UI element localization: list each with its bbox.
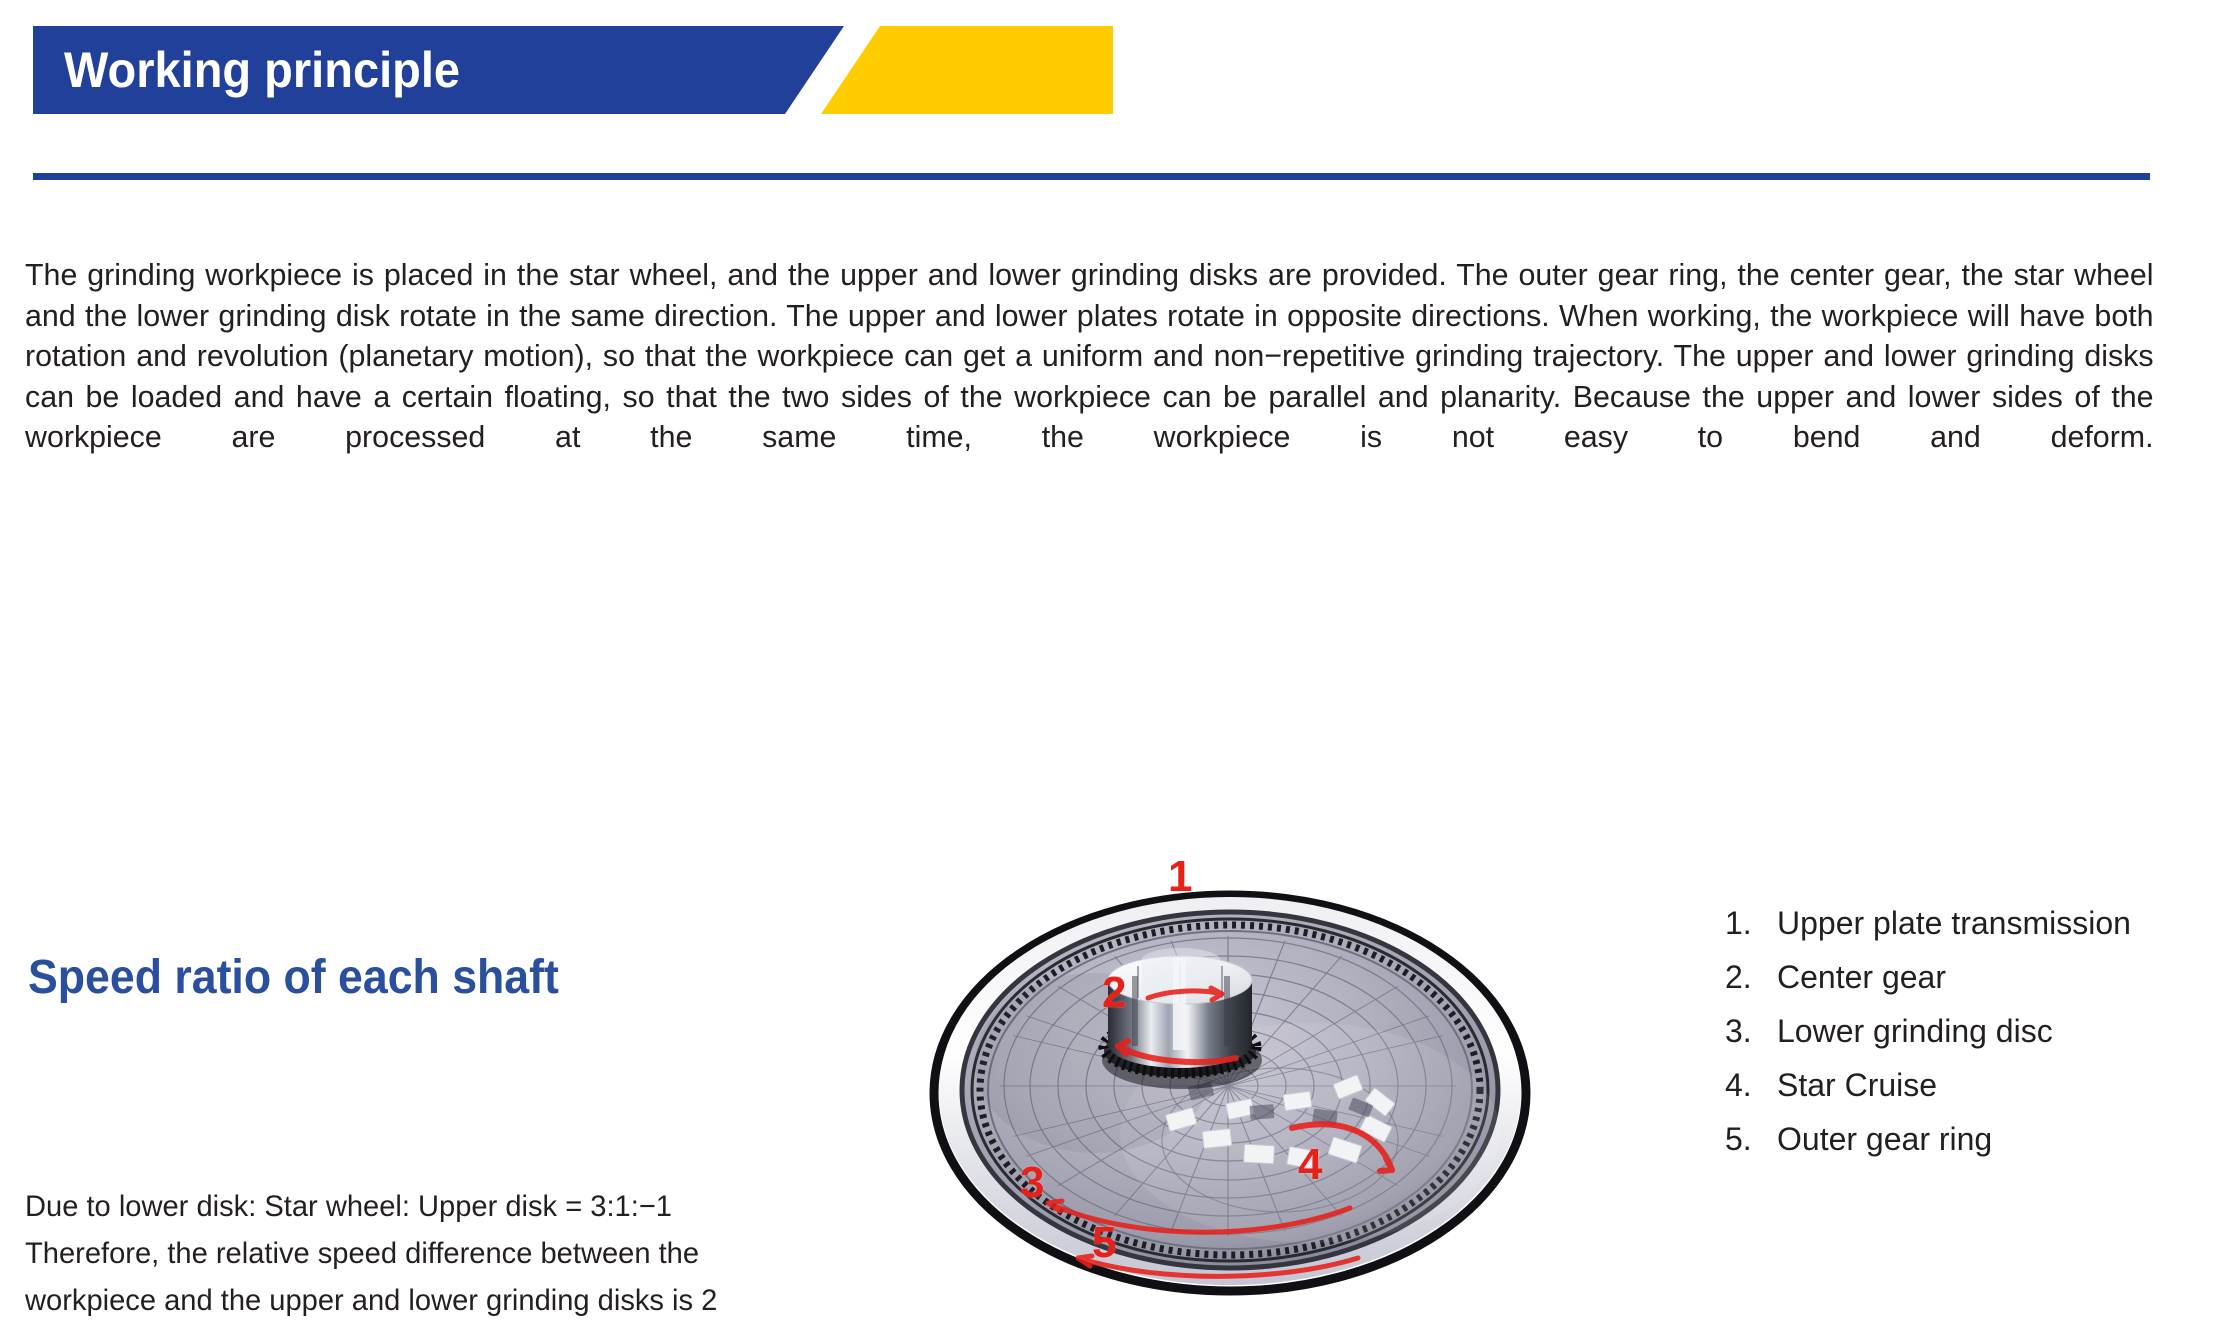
speed-ratio-text: Due to lower disk: Star wheel: Upper dis…	[25, 1183, 956, 1324]
legend-item-5: 5. Outer gear ring	[1725, 1121, 2205, 1175]
legend-item-1: 1. Upper plate transmission	[1725, 905, 2205, 959]
speed-ratio-line-2: Therefore, the relative speed difference…	[25, 1230, 956, 1277]
header-banner: Working principle	[0, 0, 2221, 130]
legend-item-2: 2. Center gear	[1725, 959, 2205, 1013]
legend-label: Lower grinding disc	[1777, 1013, 2205, 1050]
lapping-machine-photo: 1 2 3 4 5	[880, 858, 1580, 1328]
speed-ratio-heading: Speed ratio of each shaft	[28, 950, 559, 1005]
legend-label: Center gear	[1777, 959, 2205, 996]
legend-label: Outer gear ring	[1777, 1121, 2205, 1158]
working-principle-paragraph: The grinding workpiece is placed in the …	[25, 255, 2154, 498]
legend-number: 2.	[1725, 959, 1777, 996]
legend-item-3: 3. Lower grinding disc	[1725, 1013, 2205, 1067]
legend-number: 5.	[1725, 1121, 1777, 1158]
legend-number: 1.	[1725, 905, 1777, 942]
legend-number: 3.	[1725, 1013, 1777, 1050]
legend-label: Star Cruise	[1777, 1067, 2205, 1104]
lapping-machine-illustration	[880, 858, 1580, 1328]
machine-part-legend: 1. Upper plate transmission 2. Center ge…	[1725, 905, 2205, 1175]
legend-item-4: 4. Star Cruise	[1725, 1067, 2205, 1121]
legend-number: 4.	[1725, 1067, 1777, 1104]
legend-label: Upper plate transmission	[1777, 905, 2205, 942]
speed-ratio-line-3: workpiece and the upper and lower grindi…	[25, 1277, 956, 1324]
header-divider-rule	[33, 173, 2150, 180]
page-title: Working principle	[64, 26, 460, 114]
banner-yellow-shape	[821, 26, 1113, 114]
speed-ratio-line-1: Due to lower disk: Star wheel: Upper dis…	[25, 1183, 956, 1230]
